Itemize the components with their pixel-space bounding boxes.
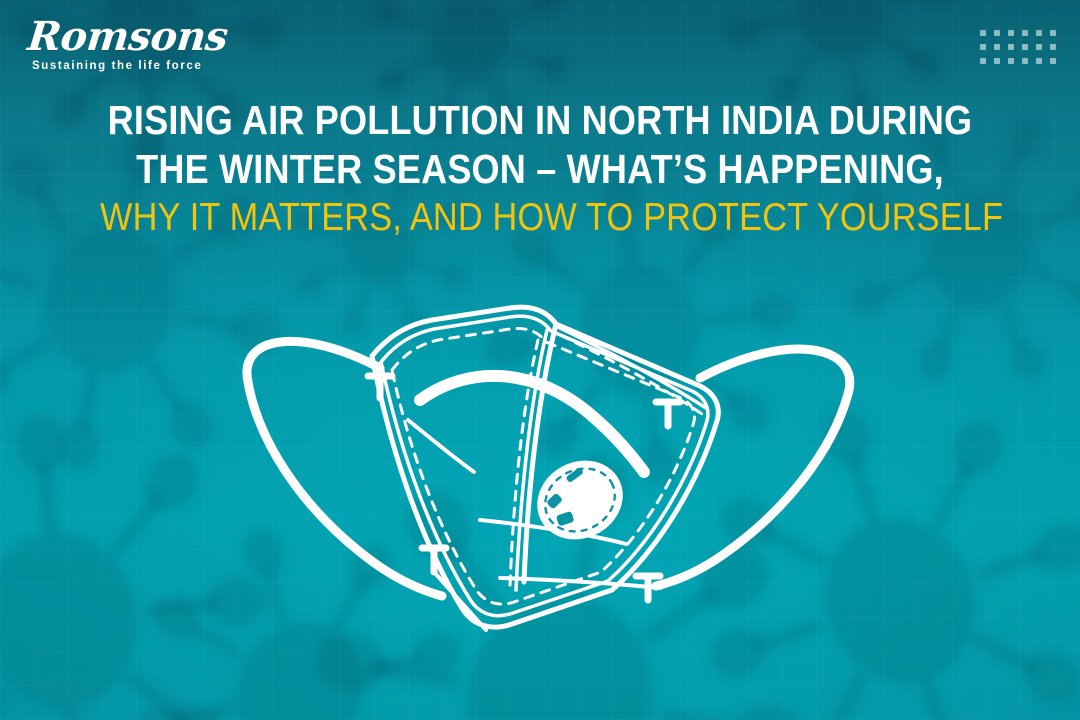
exhalation-valve — [523, 446, 636, 554]
dot — [1050, 30, 1056, 36]
page-title: RISING AIR POLLUTION IN NORTH INDIA DURI… — [0, 96, 1080, 242]
mask-detail-line-upper-left — [408, 420, 474, 472]
headline-line-3: WHY IT MATTERS, AND HOW TO PROTECT YOURS… — [100, 194, 980, 242]
dot-grid-icon — [978, 28, 1058, 66]
promo-banner: Romsons Sustaining the life force RISING… — [0, 0, 1080, 720]
headline-line-2: THE WINTER SEASON – WHAT’S HAPPENING, — [100, 145, 980, 194]
dot — [980, 58, 986, 64]
brand-logo[interactable]: Romsons Sustaining the life force — [28, 16, 268, 72]
dot — [994, 30, 1000, 36]
headline-line-1: RISING AIR POLLUTION IN NORTH INDIA DURI… — [100, 96, 980, 145]
dot — [994, 44, 1000, 50]
dot — [1022, 44, 1028, 50]
mask-outline-inner — [381, 316, 708, 616]
dot — [1036, 30, 1042, 36]
loop-anchor-top-right — [656, 402, 680, 426]
dot — [1022, 58, 1028, 64]
valve-body — [523, 446, 636, 554]
dot — [980, 30, 986, 36]
respirator-mask-illustration — [0, 290, 1080, 690]
mask-top-seam — [556, 326, 706, 408]
dot — [1022, 30, 1028, 36]
dot — [1036, 58, 1042, 64]
dot — [1008, 58, 1014, 64]
dot — [1050, 44, 1056, 50]
dot — [994, 58, 1000, 64]
dot — [1008, 30, 1014, 36]
brand-wordmark: Romsons — [26, 16, 270, 58]
dot — [980, 44, 986, 50]
ear-loop-left — [247, 341, 442, 596]
dot — [1008, 44, 1014, 50]
brand-tagline: Sustaining the life force — [32, 60, 268, 72]
dot — [1050, 58, 1056, 64]
ear-loop-right — [656, 349, 850, 586]
dot — [1036, 44, 1042, 50]
